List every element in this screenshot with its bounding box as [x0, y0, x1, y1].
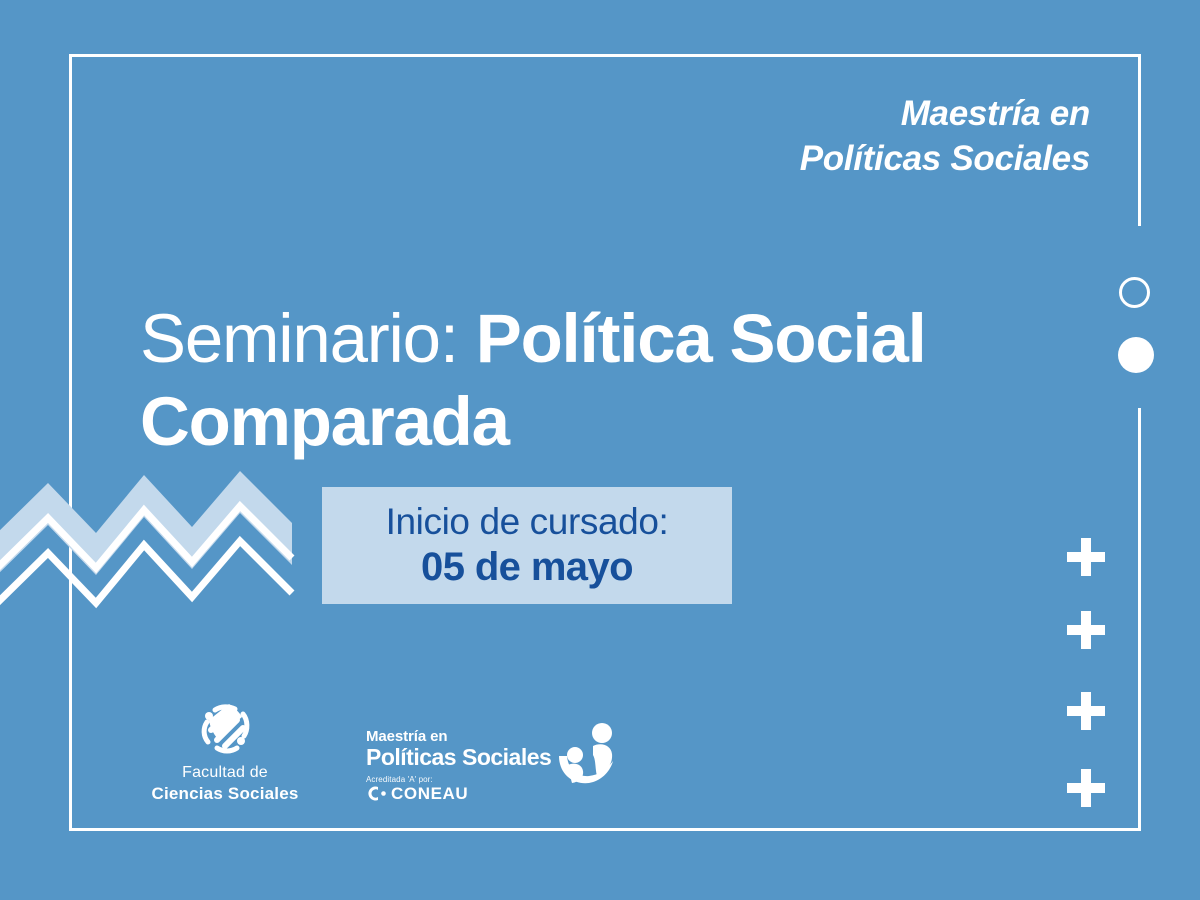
braided-weave-icon	[195, 700, 255, 756]
frame-left-border	[69, 54, 72, 831]
coneau-logo: CONEAU	[366, 785, 551, 802]
zigzag-outline-band-1	[0, 506, 292, 575]
faculty-logo: Facultad de Ciencias Sociales	[150, 700, 300, 804]
plus-icon-2	[1067, 611, 1105, 649]
program-logo-text: Maestría en Políticas Sociales Acreditad…	[366, 728, 551, 802]
faculty-logo-line2: Ciencias Sociales	[151, 783, 298, 804]
circle-filled-decoration	[1118, 337, 1154, 373]
frame-right-border-upper	[1138, 54, 1141, 226]
frame-right-border-lower	[1138, 408, 1141, 831]
start-date-label: Inicio de cursado:	[386, 501, 669, 542]
coneau-wordmark: CONEAU	[391, 785, 468, 802]
start-date-callout: Inicio de cursado: 05 de mayo	[322, 487, 732, 604]
two-figures-icon	[555, 722, 621, 784]
program-logo: Maestría en Políticas Sociales Acreditad…	[366, 700, 621, 802]
start-date-value: 05 de mayo	[421, 544, 633, 590]
plus-icon-1	[1067, 538, 1105, 576]
program-logo-line1: Maestría en	[366, 728, 551, 745]
frame-bottom-border	[69, 828, 1141, 831]
program-eyebrow-line1: Maestría en	[800, 92, 1090, 137]
plus-icon-4	[1067, 769, 1105, 807]
zigzag-filled-band	[0, 471, 292, 582]
coneau-arc-icon	[366, 785, 388, 802]
logo-strip: Facultad de Ciencias Sociales Maestría e…	[150, 700, 621, 804]
circle-outline-decoration	[1119, 277, 1150, 308]
accreditation-label: Acreditada 'A' por:	[366, 775, 551, 785]
program-eyebrow-line2: Políticas Sociales	[800, 137, 1090, 182]
promo-poster: Maestría en Políticas Sociales Seminario…	[0, 0, 1200, 900]
plus-icon-3	[1067, 692, 1105, 730]
frame-top-border	[69, 54, 1141, 57]
zigzag-outline-band-2	[0, 541, 292, 610]
faculty-logo-line1: Facultad de	[182, 763, 268, 783]
program-logo-line2: Políticas Sociales	[366, 745, 551, 770]
headline-light-part: Seminario:	[140, 300, 476, 377]
zigzag-decoration	[0, 455, 300, 620]
page-title: Seminario: Política Social Comparada	[140, 298, 940, 464]
program-eyebrow: Maestría en Políticas Sociales	[800, 92, 1090, 182]
